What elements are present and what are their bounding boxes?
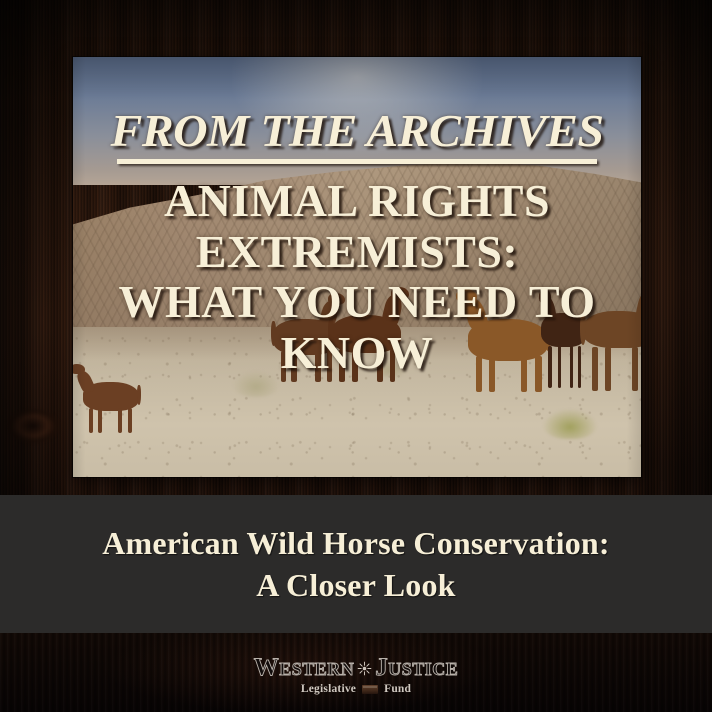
- headline-line-4: KNOW: [87, 328, 627, 379]
- headline-line-3: WHAT YOU NEED TO: [87, 277, 627, 328]
- wild-horse: [83, 382, 139, 432]
- headline-line-1: ANIMAL RIGHTS: [87, 176, 627, 227]
- headline-line-2: EXTREMISTS:: [87, 227, 627, 278]
- brand-sub-legislative: Legislative: [301, 683, 356, 695]
- footer-logo-bar: Western: [0, 633, 712, 712]
- brand-word-western: Western: [254, 654, 355, 682]
- brand-logo[interactable]: Western: [254, 654, 459, 682]
- hero-kicker-underline: [117, 159, 597, 164]
- star-burst-icon: [357, 661, 372, 676]
- capitol-emblem-icon: [362, 685, 378, 694]
- brand-subtitle: Legislative Fund: [301, 683, 411, 695]
- caption-band: American Wild Horse Conservation: A Clos…: [0, 495, 712, 633]
- caption-line-1: American Wild Horse Conservation:: [102, 522, 610, 564]
- brand-word-justice: Justice: [375, 654, 458, 682]
- hero-text-overlay: FROM THE ARCHIVES ANIMAL RIGHTS EXTREMIS…: [73, 109, 641, 378]
- wood-knot-detail: [6, 408, 60, 444]
- brand-sub-fund: Fund: [384, 683, 411, 695]
- hero-photo: FROM THE ARCHIVES ANIMAL RIGHTS EXTREMIS…: [73, 57, 641, 477]
- photo-bush: [543, 409, 597, 439]
- hero-headline: ANIMAL RIGHTS EXTREMISTS: WHAT YOU NEED …: [87, 176, 627, 378]
- hero-kicker: FROM THE ARCHIVES: [73, 109, 641, 154]
- caption-line-2: A Closer Look: [102, 564, 610, 606]
- caption-title: American Wild Horse Conservation: A Clos…: [102, 522, 610, 606]
- poster-root: FROM THE ARCHIVES ANIMAL RIGHTS EXTREMIS…: [0, 0, 712, 712]
